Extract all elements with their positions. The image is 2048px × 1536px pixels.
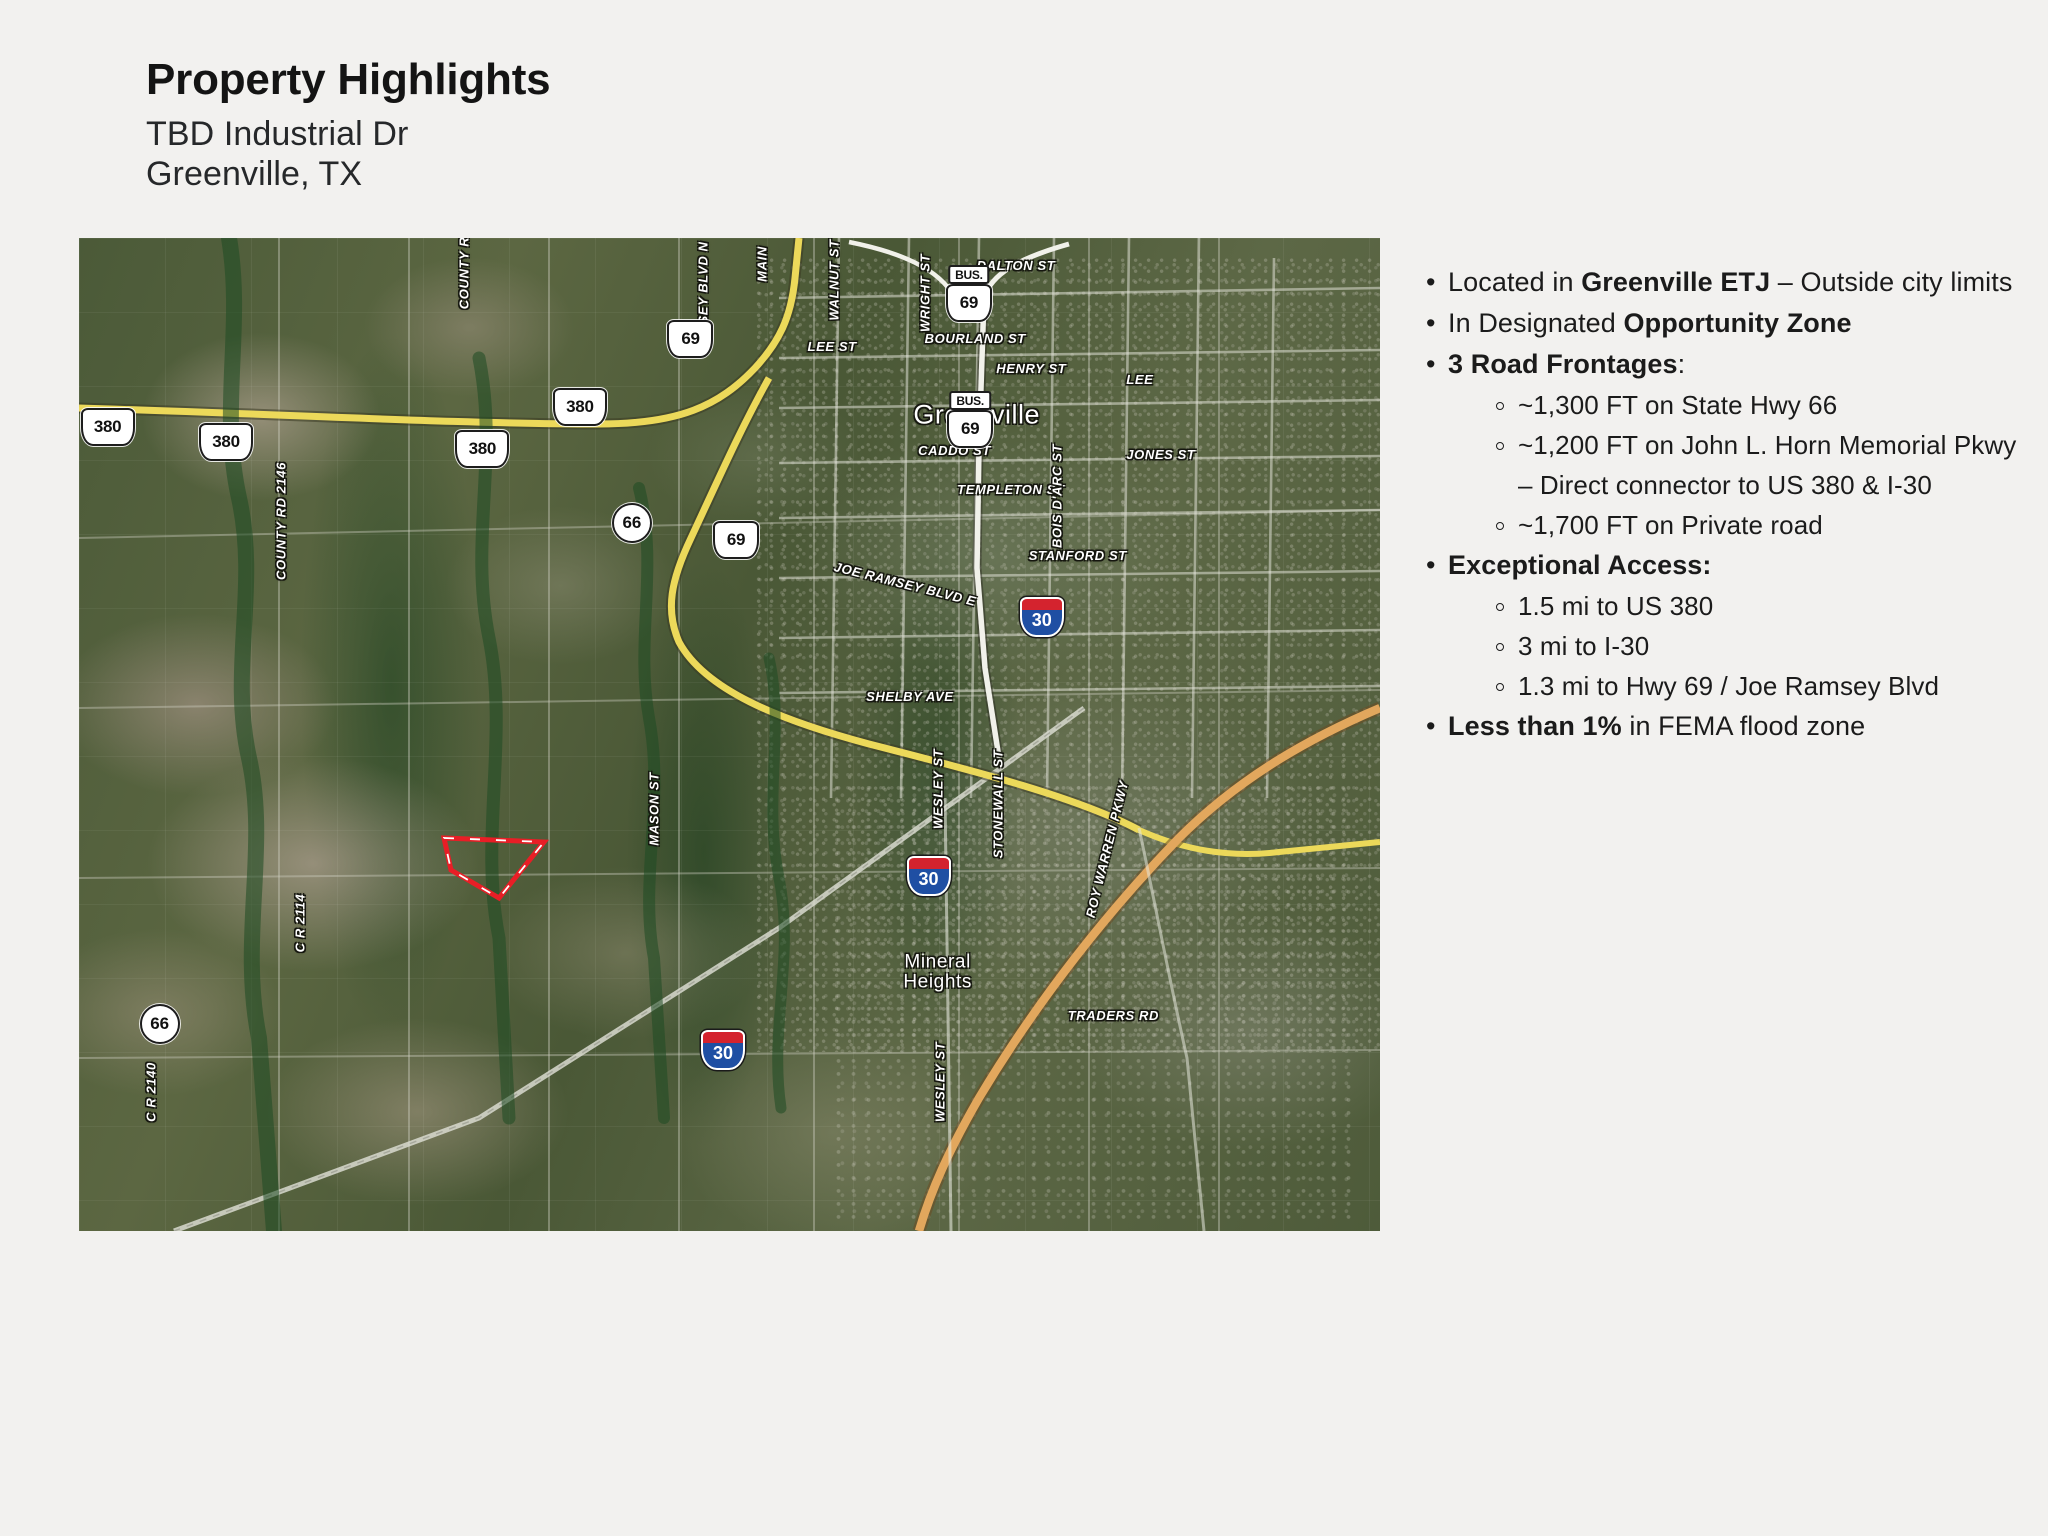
highlight-item: 3 Road Frontages:~1,300 FT on State Hwy … <box>1418 344 2018 545</box>
highlight-subitem: 1.5 mi to US 380 <box>1492 586 2018 626</box>
highlight-emphasis: 3 Road Frontages <box>1448 349 1678 379</box>
highlights-level-2: 1.5 mi to US 3803 mi to I-301.3 mi to Hw… <box>1448 586 2018 706</box>
highlight-text: 3 Road Frontages: <box>1448 349 1685 379</box>
highlight-item: In Designated Opportunity Zone <box>1418 303 2018 344</box>
highlight-subitem: 1.3 mi to Hwy 69 / Joe Ramsey Blvd <box>1492 666 2018 706</box>
highlight-run: Located in <box>1448 267 1581 297</box>
header: Property Highlights TBD Industrial Dr Gr… <box>146 56 1046 194</box>
highlight-text: Exceptional Access: <box>1448 550 1712 580</box>
highlight-text: Located in Greenville ETJ – Outside city… <box>1448 267 2012 297</box>
property-address-line-1: TBD Industrial Dr <box>146 114 1046 154</box>
page-title: Property Highlights <box>146 56 1046 104</box>
highlight-subitem: ~1,200 FT on John L. Horn Memorial Pkwy … <box>1492 425 2018 505</box>
highlight-subitem: ~1,300 FT on State Hwy 66 <box>1492 385 2018 425</box>
highlight-run: in FEMA flood zone <box>1622 711 1866 741</box>
highlight-text: Less than 1% in FEMA flood zone <box>1448 711 1865 741</box>
highlight-run: In Designated <box>1448 308 1624 338</box>
highlight-run: : <box>1678 349 1686 379</box>
subject-property-boundary[interactable] <box>79 238 1380 1231</box>
highlights-level-2: ~1,300 FT on State Hwy 66~1,200 FT on Jo… <box>1448 385 2018 545</box>
property-address-line-2: Greenville, TX <box>146 154 1046 194</box>
highlight-item: Located in Greenville ETJ – Outside city… <box>1418 262 2018 303</box>
highlights-level-1: Located in Greenville ETJ – Outside city… <box>1418 262 2018 747</box>
highlight-run: – Outside city limits <box>1770 267 2012 297</box>
aerial-map-figure[interactable]: COUNTY RD COUNTY RD 2146 C R 2114 C R 21… <box>79 238 1380 1231</box>
highlight-emphasis: Opportunity Zone <box>1624 308 1852 338</box>
highlight-item: Less than 1% in FEMA flood zone <box>1418 706 2018 747</box>
highlight-subitem: 3 mi to I-30 <box>1492 626 2018 666</box>
property-highlights-list: Located in Greenville ETJ – Outside city… <box>1418 262 2018 747</box>
highlight-subitem: ~1,700 FT on Private road <box>1492 505 2018 545</box>
highlight-item: Exceptional Access:1.5 mi to US 3803 mi … <box>1418 545 2018 706</box>
highlight-emphasis: Greenville ETJ <box>1581 267 1770 297</box>
highlight-emphasis: Less than 1% <box>1448 711 1622 741</box>
highlight-emphasis: Exceptional Access: <box>1448 550 1712 580</box>
highlight-text: In Designated Opportunity Zone <box>1448 308 1852 338</box>
